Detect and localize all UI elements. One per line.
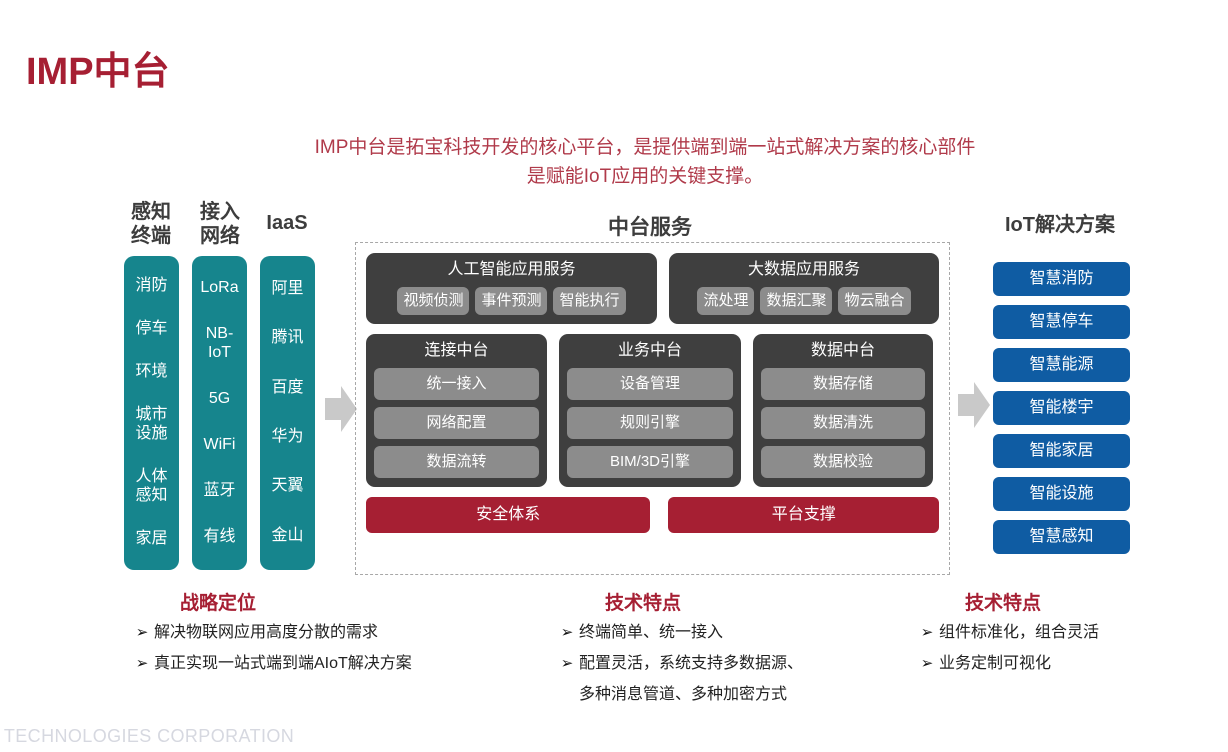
bullet-arrow-icon: ➢ — [555, 621, 579, 645]
column-header-sensing-line1: 感知 — [120, 200, 182, 224]
solution-button[interactable]: 智慧能源 — [993, 348, 1130, 382]
center-platform-title: 中台服务 — [520, 211, 780, 241]
chip[interactable]: 智能执行 — [553, 287, 625, 315]
iaas-provider-stack: 阿里 腾讯 百度 华为 天翼 金山 — [260, 256, 315, 570]
chip-column: 统一接入 网络配置 数据流转 — [374, 368, 539, 478]
note-technical-features-right: 技术特点 ➢ 组件标准化，组合灵活 ➢ 业务定制可视化 — [915, 588, 1225, 683]
note-bullet: ➢ 配置灵活，系统支持多数据源、 — [555, 652, 955, 676]
solution-button[interactable]: 智能楼宇 — [993, 391, 1130, 425]
note-text: 终端简单、统一接入 — [579, 621, 955, 645]
column-header-network-line2: 网络 — [189, 224, 251, 248]
bullet-arrow-icon: ➢ — [915, 652, 939, 676]
bullet-arrow-icon: ➢ — [130, 652, 154, 676]
chip[interactable]: 数据清洗 — [761, 407, 925, 439]
chip[interactable]: 统一接入 — [374, 368, 539, 400]
chip-column: 数据存储 数据清洗 数据校验 — [761, 368, 925, 478]
list-item[interactable]: 家居 — [127, 529, 177, 548]
list-item[interactable]: 阿里 — [263, 279, 313, 298]
note-text: 组件标准化，组合灵活 — [939, 621, 1225, 645]
chip[interactable]: 物云融合 — [838, 287, 910, 315]
chip-column: 设备管理 规则引擎 BIM/3D引擎 — [567, 368, 733, 478]
list-item[interactable]: 消防 — [127, 276, 177, 295]
bar-security-system[interactable]: 安全体系 — [366, 497, 650, 533]
list-item[interactable]: 蓝牙 — [195, 481, 245, 500]
chip-row: 流处理 数据汇聚 物云融合 — [677, 287, 931, 315]
solution-button[interactable]: 智能家居 — [993, 434, 1130, 468]
list-item[interactable]: 有线 — [195, 527, 245, 546]
bullet-arrow-icon: ➢ — [130, 621, 154, 645]
list-item[interactable]: 天翼 — [263, 476, 313, 495]
chip[interactable]: 网络配置 — [374, 407, 539, 439]
foundation-bars-row: 安全体系 平台支撑 — [366, 497, 939, 533]
list-item[interactable]: 5G — [195, 389, 245, 408]
access-network-stack: LoRa NB-IoT 5G WiFi 蓝牙 有线 — [192, 256, 247, 570]
subtitle-line-1: IMP中台是拓宝科技开发的核心平台，是提供端到端一站式解决方案的核心部件 — [180, 133, 1110, 162]
column-header-sensing-line2: 终端 — [120, 224, 182, 248]
subtitle: IMP中台是拓宝科技开发的核心平台，是提供端到端一站式解决方案的核心部件 是赋能… — [180, 133, 1110, 191]
note-technical-features-center: 技术特点 ➢ 终端简单、统一接入 ➢ 配置灵活，系统支持多数据源、 多种消息管道… — [555, 588, 955, 707]
chip[interactable]: 数据汇聚 — [760, 287, 832, 315]
column-header-sensing: 感知 终端 — [120, 200, 182, 248]
list-item[interactable]: 腾讯 — [263, 328, 313, 347]
arrow-right-icon — [958, 382, 990, 428]
panel-business-platform: 业务中台 设备管理 规则引擎 BIM/3D引擎 — [559, 334, 741, 487]
note-bullet: ➢ 组件标准化，组合灵活 — [915, 621, 1225, 645]
chip-row: 视频侦测 事件预测 智能执行 — [374, 287, 649, 315]
column-header-network: 接入 网络 — [189, 200, 251, 248]
chip[interactable]: 数据流转 — [374, 446, 539, 478]
panel-connection-platform: 连接中台 统一接入 网络配置 数据流转 — [366, 334, 547, 487]
note-text: 配置灵活，系统支持多数据源、 — [579, 652, 955, 676]
list-item[interactable]: 金山 — [263, 526, 313, 545]
note-bullet: ➢ 真正实现一站式端到端AIoT解决方案 — [130, 652, 550, 676]
iot-solutions-list: 智慧消防 智慧停车 智慧能源 智能楼宇 智能家居 智能设施 智慧感知 — [993, 262, 1130, 563]
subtitle-line-2: 是赋能IoT应用的关键支撑。 — [180, 162, 1110, 191]
list-item[interactable]: WiFi — [195, 435, 245, 454]
footer-company-name: BO TECHNOLOGIES CORPORATION — [0, 726, 294, 747]
sensing-terminal-stack: 消防 停车 环境 城市设施 人体感知 家居 — [124, 256, 179, 570]
note-bullet: ➢ 终端简单、统一接入 — [555, 621, 955, 645]
chip[interactable]: 设备管理 — [567, 368, 733, 400]
chip[interactable]: 规则引擎 — [567, 407, 733, 439]
arrow-right-icon — [325, 386, 357, 432]
note-title: 技术特点 — [965, 588, 1225, 615]
bar-platform-support[interactable]: 平台支撑 — [668, 497, 939, 533]
list-item[interactable]: 城市设施 — [127, 405, 177, 443]
panel-title: 大数据应用服务 — [677, 259, 931, 281]
iot-solutions-header: IoT解决方案 — [985, 213, 1135, 237]
list-item[interactable]: 人体感知 — [127, 467, 177, 505]
chip[interactable]: BIM/3D引擎 — [567, 446, 733, 478]
list-item[interactable]: NB-IoT — [195, 324, 245, 362]
solution-button[interactable]: 智慧停车 — [993, 305, 1130, 339]
note-text-continuation: 多种消息管道、多种加密方式 — [579, 683, 955, 707]
bullet-arrow-icon: ➢ — [555, 652, 579, 676]
note-bullet: ➢ 业务定制可视化 — [915, 652, 1225, 676]
middle-platforms-row: 连接中台 统一接入 网络配置 数据流转 业务中台 设备管理 规则引擎 BIM/3… — [366, 334, 939, 487]
chip[interactable]: 事件预测 — [475, 287, 547, 315]
list-item[interactable]: 华为 — [263, 427, 313, 446]
panel-title: 业务中台 — [567, 340, 733, 362]
note-title: 战略定位 — [180, 588, 550, 615]
panel-title: 数据中台 — [761, 340, 925, 362]
solution-button[interactable]: 智慧感知 — [993, 520, 1130, 554]
chip[interactable]: 数据校验 — [761, 446, 925, 478]
bullet-arrow-icon: ➢ — [915, 621, 939, 645]
panel-ai-application-services: 人工智能应用服务 视频侦测 事件预测 智能执行 — [366, 253, 657, 324]
panel-title: 连接中台 — [374, 340, 539, 362]
note-text: 真正实现一站式端到端AIoT解决方案 — [154, 652, 550, 676]
panel-bigdata-application-services: 大数据应用服务 流处理 数据汇聚 物云融合 — [669, 253, 939, 324]
solution-button[interactable]: 智能设施 — [993, 477, 1130, 511]
column-header-network-line1: 接入 — [189, 200, 251, 224]
list-item[interactable]: 停车 — [127, 319, 177, 338]
page-title: IMP中台 — [26, 40, 170, 95]
platform-services-container: 人工智能应用服务 视频侦测 事件预测 智能执行 大数据应用服务 流处理 数据汇聚… — [355, 242, 950, 575]
note-title: 技术特点 — [605, 588, 955, 615]
chip[interactable]: 流处理 — [697, 287, 754, 315]
list-item[interactable]: 环境 — [127, 362, 177, 381]
note-bullet: ➢ 解决物联网应用高度分散的需求 — [130, 621, 550, 645]
chip[interactable]: 视频侦测 — [397, 287, 469, 315]
chip[interactable]: 数据存储 — [761, 368, 925, 400]
panel-title: 人工智能应用服务 — [374, 259, 649, 281]
application-services-row: 人工智能应用服务 视频侦测 事件预测 智能执行 大数据应用服务 流处理 数据汇聚… — [366, 253, 939, 324]
list-item[interactable]: LoRa — [195, 278, 245, 297]
note-strategic-positioning: 战略定位 ➢ 解决物联网应用高度分散的需求 ➢ 真正实现一站式端到端AIoT解决… — [130, 588, 550, 683]
panel-data-platform: 数据中台 数据存储 数据清洗 数据校验 — [753, 334, 933, 487]
note-text: 解决物联网应用高度分散的需求 — [154, 621, 550, 645]
note-text: 业务定制可视化 — [939, 652, 1225, 676]
column-header-iaas: IaaS — [256, 211, 318, 235]
list-item[interactable]: 百度 — [263, 378, 313, 397]
solution-button[interactable]: 智慧消防 — [993, 262, 1130, 296]
column-header-iaas-line1: IaaS — [256, 211, 318, 235]
